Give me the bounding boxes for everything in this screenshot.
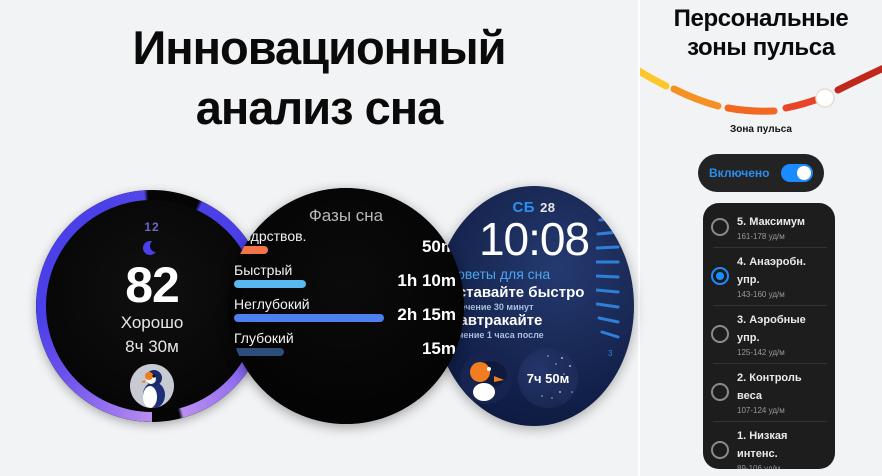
zone-name: 3. Аэробные упр. [737,314,806,344]
phase-bar [234,348,284,356]
zone-row[interactable]: 1. Низкая интенс. 89-106 уд/м [703,421,835,469]
hour-marker-12: 12 [46,220,258,234]
zone-row[interactable]: 5. Максимум 161-178 уд/м [703,207,835,247]
sleep-phase-row: Глубокий 15m [228,330,464,364]
zone-toggle-label: Включено [709,166,769,180]
heart-rate-arc[interactable] [640,58,882,128]
zone-text: 3. Аэробные упр. 125-142 уд/м [737,310,827,358]
zone-row[interactable]: 3. Аэробные упр. 125-142 уд/м [703,305,835,363]
watch-sleep-score-face: 12 82 Хорошо 8ч 30м [46,200,258,412]
zone-name: 1. Низкая интенс. [737,430,787,460]
sleep-tip-1-title: Вставайте быстро [447,284,584,301]
penguin-avatar-icon [460,352,512,404]
sleep-analysis-panel: Инновационный анализ сна 12 82 Хорошо 8ч… [0,0,638,476]
zone-name: 2. Контроль веса [737,372,802,402]
arc-handle-dot [816,89,834,107]
phase-value: 50m [422,237,456,257]
left-headline: Инновационный анализ сна [0,18,638,138]
sleep-quality-label: Хорошо [46,313,258,333]
phase-name: Быстрый [234,262,292,278]
sleep-total-value: 7ч 50м [518,348,578,408]
phase-bar [234,280,306,288]
sleep-phases-title: Фазы сна [228,206,464,226]
zone-name: 5. Максимум [737,216,805,228]
radio-icon[interactable] [711,441,729,459]
phase-value: 15m [422,339,456,359]
phase-name: Неглубокий [234,296,310,312]
radio-icon[interactable] [711,325,729,343]
zone-section-label: Зона пульса [640,124,882,135]
watch-clock-tips[interactable]: 10 3 СБ28 10:08 Советы для сна Вставайте… [434,186,634,426]
phase-value: 1h 10m [397,271,456,291]
radio-icon[interactable] [711,218,729,236]
moon-icon [142,238,162,258]
sleep-total-bubble: 7ч 50м [518,348,578,408]
zone-row[interactable]: 2. Контроль веса 107-124 уд/м [703,363,835,421]
phase-bar [234,246,268,254]
right-headline-line2: зоны пульса [687,34,835,61]
right-headline: Персональные зоны пульса [640,4,882,62]
zone-range: 143-160 уд/м [737,290,827,300]
phase-name: Глубокий [234,330,294,346]
radio-icon[interactable] [711,267,729,285]
zone-range: 161-178 уд/м [737,232,827,242]
zone-range: 89-106 уд/м [737,464,827,469]
svg-text:3: 3 [608,349,613,358]
zone-toggle[interactable]: Включено [698,154,824,192]
penguin-avatar-icon [130,364,174,408]
zone-range: 125-142 уд/м [737,348,827,358]
left-headline-line1: Инновационный [133,21,506,74]
zone-text: 2. Контроль веса 107-124 уд/м [737,368,827,416]
zone-text: 5. Максимум 161-178 уд/м [737,212,827,242]
radio-icon[interactable] [711,383,729,401]
sleep-phase-row: Быстрый 1h 10m [228,262,464,296]
right-headline-line1: Персональные [674,5,849,32]
left-headline-line2: анализ сна [0,78,638,138]
zone-row[interactable]: 4. Анаэробн. упр. 143-160 уд/м [703,247,835,305]
watch-sleep-phases[interactable]: Фазы сна Бодрствов. 50m Быстрый 1h 10m Н… [228,188,464,424]
zone-name: 4. Анаэробн. упр. [737,256,806,286]
sleep-phase-row: Бодрствов. 50m [228,228,464,262]
sleep-phases-list: Бодрствов. 50m Быстрый 1h 10m Неглубокий… [228,228,464,364]
phase-value: 2h 15m [397,305,456,325]
screenshot-root: Инновационный анализ сна 12 82 Хорошо 8ч… [0,0,882,476]
watch-time: 10:08 [434,214,634,264]
phase-name: Бодрствов. [234,228,306,244]
toggle-knob [797,166,811,180]
sleep-phase-row: Неглубокий 2h 15m [228,296,464,330]
zone-text: 4. Анаэробн. упр. 143-160 уд/м [737,252,827,300]
zone-range: 107-124 уд/м [737,406,827,416]
sleep-score-value: 82 [46,258,258,312]
phase-bar [234,314,384,322]
zone-text: 1. Низкая интенс. 89-106 уд/м [737,426,827,469]
watch-sleep-phases-face: Фазы сна Бодрствов. 50m Быстрый 1h 10m Н… [228,188,464,424]
sleep-duration-label: 8ч 30м [46,337,258,357]
heart-rate-zone-list[interactable]: 5. Максимум 161-178 уд/м 4. Анаэробн. уп… [703,203,835,469]
zone-toggle-switch[interactable] [781,164,813,182]
